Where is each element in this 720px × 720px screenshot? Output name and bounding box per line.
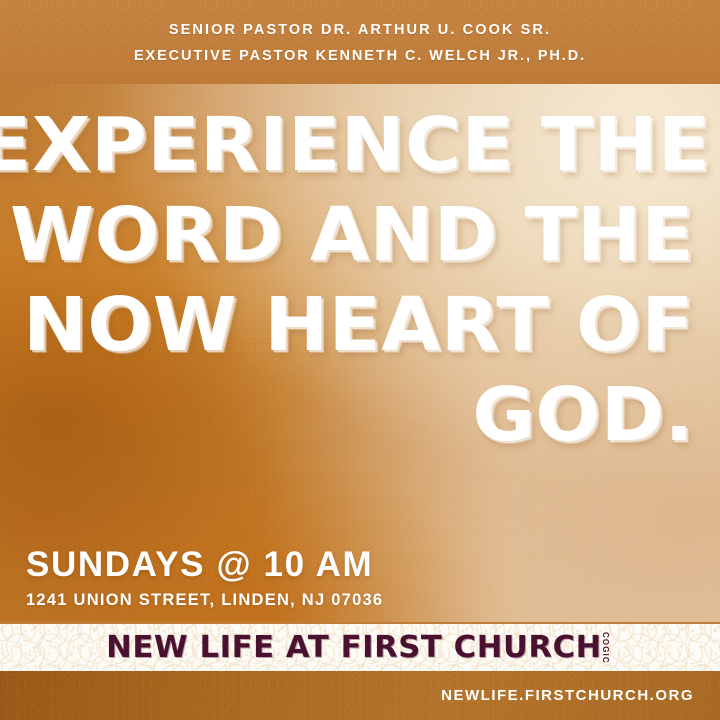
headline-line-4: God.	[0, 370, 694, 460]
service-time: Sundays @ 10 AM	[26, 545, 383, 585]
website-url[interactable]: newlife.firstchurch.org	[0, 671, 720, 720]
service-info-block: Sundays @ 10 AM 1241 Union Street, Linde…	[26, 545, 383, 610]
church-flyer: Senior Pastor Dr. Arthur U. Cook Sr. Exe…	[0, 0, 720, 720]
headline-line-3: Now Heart of	[0, 280, 694, 370]
church-name-bar: New Life at First Church COGIC	[0, 622, 720, 671]
service-address: 1241 Union Street, Linden, NJ 07036	[26, 591, 383, 610]
headline-line-2: Word and the	[0, 190, 694, 280]
headline-block: Experience the Word and the Now Heart of…	[0, 100, 694, 460]
website-bar: newlife.firstchurch.org	[0, 671, 720, 720]
senior-pastor-line: Senior Pastor Dr. Arthur U. Cook Sr.	[169, 22, 551, 38]
church-name: New Life at First Church	[106, 630, 602, 665]
pastor-credits-band: Senior Pastor Dr. Arthur U. Cook Sr. Exe…	[0, 0, 720, 84]
cogic-affiliation-label: COGIC	[601, 632, 609, 664]
executive-pastor-line: Executive Pastor Kenneth C. Welch Jr., P…	[134, 48, 586, 64]
headline-line-1: Experience the	[0, 100, 694, 190]
